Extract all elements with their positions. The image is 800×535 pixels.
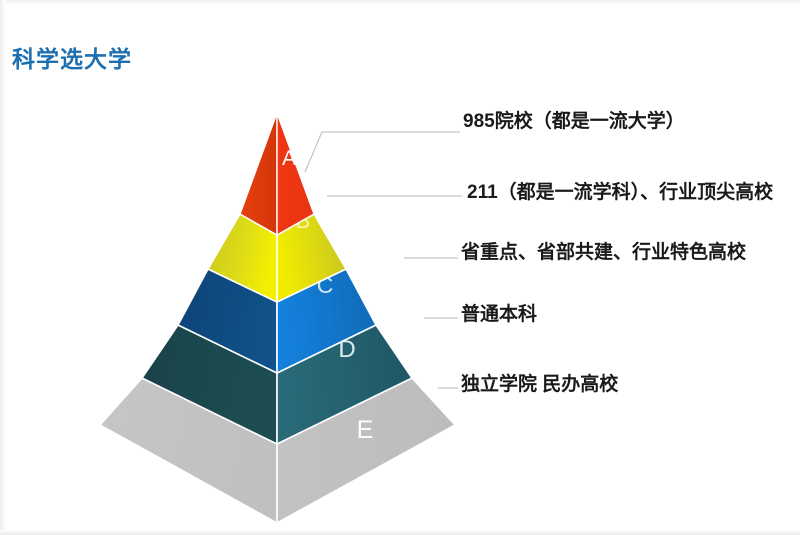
slide-canvas: 科学选大学 xyxy=(0,0,800,535)
leader-line-A xyxy=(305,132,460,172)
callout-label-E: 独立学院 民办高校 xyxy=(461,375,618,394)
pyramid-level-A-letter: A xyxy=(282,147,296,170)
pyramid-diagram: E D C B A xyxy=(0,0,800,535)
callout-label-C: 省重点、省部共建、行业特色高校 xyxy=(461,243,746,262)
pyramid-level-A-right-face xyxy=(277,113,314,235)
callout-label-D: 普通本科 xyxy=(461,305,537,324)
pyramid-level-A-left-face xyxy=(240,113,277,235)
callout-label-B: 211（都是一流学科）、行业顶尖高校 xyxy=(467,183,773,202)
callout-label-A: 985院校（都是一流大学） xyxy=(463,112,685,131)
pyramid-level-A[interactable]: A xyxy=(240,113,314,235)
pyramid-level-E-letter: E xyxy=(357,416,374,444)
